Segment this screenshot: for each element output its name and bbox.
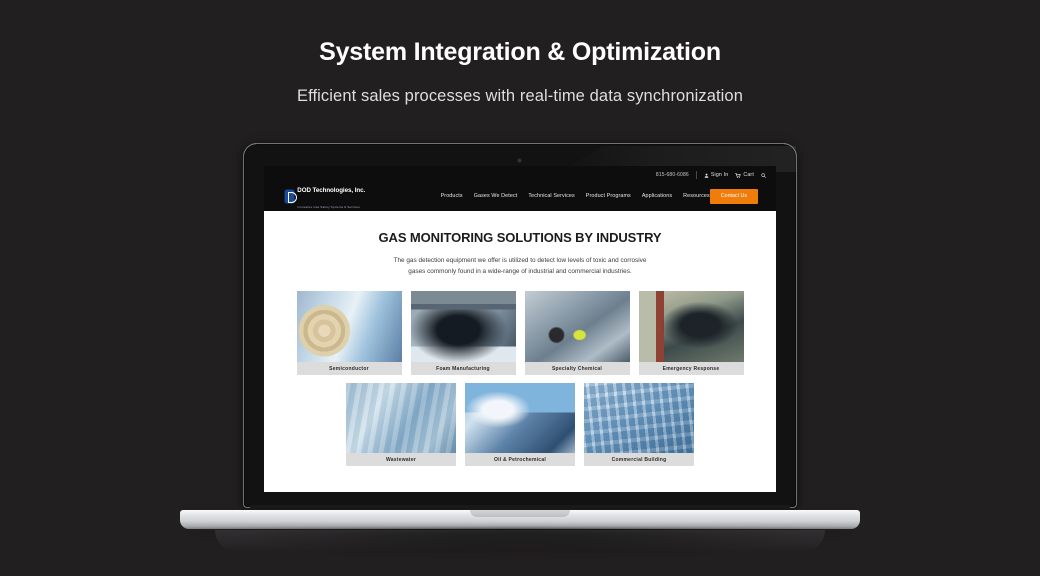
nav-item-applications[interactable]: Applications: [642, 193, 672, 199]
browser-viewport: 815-680-6086 Sign In: [264, 166, 776, 492]
industry-grid-row-1: Semiconductor Foam Manufacturing Special…: [264, 291, 776, 375]
search-button[interactable]: [761, 173, 766, 178]
industry-thumbnail: [525, 291, 630, 362]
section-title: GAS MONITORING SOLUTIONS BY INDUSTRY: [264, 230, 776, 245]
user-icon: [704, 173, 709, 178]
cart-label: Cart: [743, 172, 754, 178]
page-content: GAS MONITORING SOLUTIONS BY INDUSTRY The…: [264, 211, 776, 492]
section-description-line-2: gases commonly found in a wide-range of …: [264, 267, 776, 278]
nav-item-product-programs[interactable]: Product Programs: [586, 193, 631, 199]
phone-number[interactable]: 815-680-6086: [656, 172, 689, 178]
industry-card-label: Wastewater: [346, 453, 456, 466]
industry-card-foam-manufacturing[interactable]: Foam Manufacturing: [411, 291, 516, 375]
industry-card-label: Oil & Petrochemical: [465, 453, 575, 466]
utility-bar: 815-680-6086 Sign In: [656, 171, 766, 179]
industry-card-label: Specialty Chemical: [525, 362, 630, 375]
industry-card-label: Emergency Response: [639, 362, 744, 375]
industry-card-specialty-chemical[interactable]: Specialty Chemical: [525, 291, 630, 375]
primary-nav: Products Gases We Detect Technical Servi…: [441, 193, 710, 199]
cart-link[interactable]: Cart: [735, 172, 754, 178]
industry-card-semiconductor[interactable]: Semiconductor: [297, 291, 402, 375]
industry-thumbnail: [465, 383, 575, 453]
industry-thumbnail: [584, 383, 694, 453]
industry-card-oil-petrochemical[interactable]: Oil & Petrochemical: [465, 383, 575, 466]
nav-item-products[interactable]: Products: [441, 193, 463, 199]
search-icon: [761, 173, 766, 178]
webcam-icon: [517, 158, 522, 163]
industry-thumbnail: [411, 291, 516, 362]
site-header: 815-680-6086 Sign In: [264, 166, 776, 211]
industry-grid-row-2: Wastewater Oil & Petrochemical Commercia…: [264, 383, 776, 466]
sign-in-label: Sign In: [711, 172, 729, 178]
divider: [696, 171, 697, 179]
section-description-line-1: The gas detection equipment we offer is …: [264, 256, 776, 267]
logo-text: DOD Technologies, Inc. Innovative Gas Sa…: [297, 180, 393, 212]
laptop-mockup: 815-680-6086 Sign In: [0, 0, 1040, 576]
laptop-base-notch: [470, 510, 570, 517]
cart-icon: [735, 173, 741, 178]
industry-thumbnail: [297, 291, 402, 362]
industry-thumbnail: [346, 383, 456, 453]
contact-us-button[interactable]: Contact Us: [710, 189, 758, 204]
industry-card-label: Foam Manufacturing: [411, 362, 516, 375]
sign-in-link[interactable]: Sign In: [704, 172, 729, 178]
industry-thumbnail: [639, 291, 744, 362]
industry-card-label: Commercial Building: [584, 453, 694, 466]
industry-card-commercial-building[interactable]: Commercial Building: [584, 383, 694, 466]
industry-card-emergency-response[interactable]: Emergency Response: [639, 291, 744, 375]
nav-item-gases-we-detect[interactable]: Gases We Detect: [474, 193, 518, 199]
logo-mark-icon: [285, 190, 294, 203]
nav-item-technical-services[interactable]: Technical Services: [528, 193, 574, 199]
industry-card-label: Semiconductor: [297, 362, 402, 375]
slide-canvas: System Integration & Optimization Effici…: [0, 0, 1040, 576]
logo-tagline: Innovative Gas Safety Systems & Services: [297, 205, 360, 209]
nav-item-resources[interactable]: Resources: [683, 193, 710, 199]
laptop-reflection: [215, 530, 825, 552]
industry-card-wastewater[interactable]: Wastewater: [346, 383, 456, 466]
section-description: The gas detection equipment we offer is …: [264, 256, 776, 277]
header-main-row: DOD Technologies, Inc. Innovative Gas Sa…: [264, 181, 776, 211]
logo-company-name: DOD Technologies, Inc.: [297, 187, 365, 194]
site-logo[interactable]: DOD Technologies, Inc. Innovative Gas Sa…: [285, 180, 394, 212]
